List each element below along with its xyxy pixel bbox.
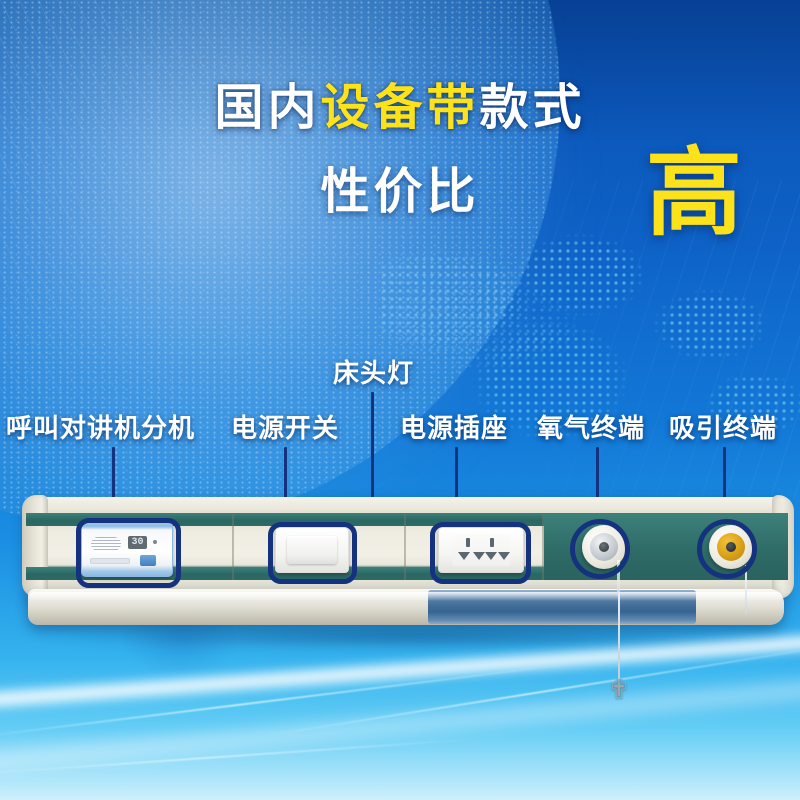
- light-streak-3: [0, 739, 469, 776]
- highlight-circle-oxygen: [570, 519, 630, 579]
- highlight-circle-suction: [697, 519, 757, 579]
- highlight-box-power-switch: [268, 522, 357, 584]
- headline-emphasis-character: 高: [646, 146, 742, 242]
- panel-end-cap-left: [22, 495, 48, 597]
- panel-seam-3: [542, 514, 544, 580]
- light-streak-2: [264, 641, 800, 737]
- pull-cord-weight-icon[interactable]: ✟: [606, 676, 632, 702]
- earth-globe-graphic: [0, 0, 560, 530]
- callout-label-suction: 吸引终端: [669, 415, 777, 441]
- rail-highlight: [30, 592, 782, 601]
- callout-label-bed-lamp: 床头灯: [333, 360, 414, 386]
- highlight-box-power-socket: [430, 522, 531, 584]
- banner-stage: 国内设备带款式 性价比 高 呼叫对讲机分机 电源开关 床头灯 电源插座 氧气终端…: [0, 0, 800, 800]
- headline-part-2: 设备带: [320, 81, 479, 135]
- light-streak-1: [0, 662, 578, 740]
- headline-part-3: 款式: [480, 81, 586, 135]
- earth-texture-overlay: [0, 0, 560, 530]
- suction-pull-cord[interactable]: [618, 592, 620, 680]
- callout-label-intercom: 呼叫对讲机分机: [6, 415, 195, 441]
- headline-primary: 国内设备带款式: [0, 84, 800, 133]
- callout-label-power-socket: 电源插座: [400, 415, 508, 441]
- panel-drop-shadow: [40, 628, 780, 650]
- callout-label-power-switch: 电源开关: [231, 415, 339, 441]
- bottom-light-sweep-soft: [0, 662, 800, 792]
- headline-part-1: 国内: [214, 81, 320, 135]
- panel-seam-1: [232, 514, 234, 580]
- callout-label-oxygen: 氧气终端: [537, 415, 645, 441]
- panel-seam-2: [404, 514, 406, 580]
- highlight-box-intercom: [76, 518, 181, 588]
